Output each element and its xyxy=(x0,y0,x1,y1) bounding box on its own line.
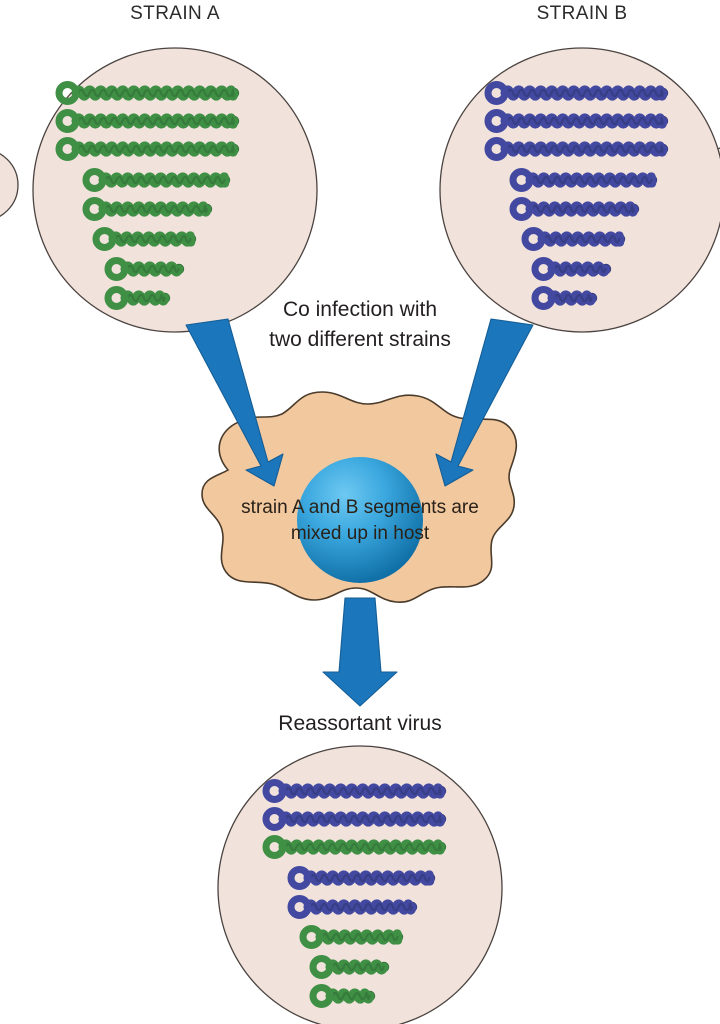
label-strain-a: STRAIN A xyxy=(75,2,275,26)
rna-segment-loop xyxy=(59,85,76,102)
host-cell-text-line1: strain A and B segments are xyxy=(180,496,540,521)
arrow-host-to-reassortant xyxy=(323,598,397,706)
edge-virion-left xyxy=(0,149,18,221)
diagram-canvas: STRAIN A STRAIN B Co infection with two … xyxy=(0,0,720,1024)
label-strain-b: STRAIN B xyxy=(482,2,682,26)
caption-reassortant-virus: Reassortant virus xyxy=(240,711,480,738)
caption-coinfection-line2: two different strains xyxy=(240,327,480,354)
host-cell-text-line2: mixed up in host xyxy=(180,522,540,547)
caption-coinfection-line1: Co infection with xyxy=(250,297,470,324)
